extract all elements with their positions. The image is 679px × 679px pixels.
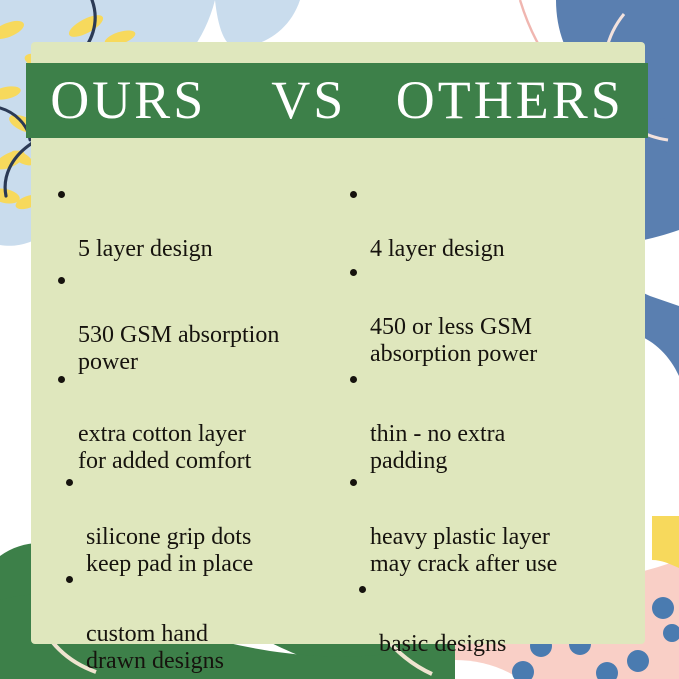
bullet-dot-icon bbox=[350, 191, 357, 198]
list-item-label: heavy plastic layer may crack after use bbox=[370, 524, 557, 580]
list-item-label: 450 or less GSM absorption power bbox=[370, 314, 537, 370]
comparison-columns: 5 layer design 530 GSM absorption power … bbox=[31, 150, 645, 644]
list-item: custom hand drawn designs bbox=[66, 565, 224, 679]
list-item-label: 5 layer design bbox=[78, 236, 213, 264]
bullet-dot-icon bbox=[58, 277, 65, 284]
column-ours: 5 layer design 530 GSM absorption power … bbox=[31, 150, 338, 644]
bullet-dot-icon bbox=[66, 576, 73, 583]
list-item-label: basic designs bbox=[379, 631, 506, 659]
bullet-dot-icon bbox=[359, 586, 366, 593]
column-others: 4 layer design 450 or less GSM absorptio… bbox=[338, 150, 645, 644]
bullet-dot-icon bbox=[58, 191, 65, 198]
bottom-right-yellow-corner bbox=[652, 516, 679, 568]
bullet-dot-icon bbox=[58, 376, 65, 383]
bullet-dot-icon bbox=[350, 376, 357, 383]
title-band: OURS VS OTHERS bbox=[26, 63, 648, 138]
list-item-label: custom hand drawn designs bbox=[86, 621, 224, 677]
list-item: basic designs bbox=[359, 575, 506, 679]
poster-canvas: OURS VS OTHERS 5 layer design 530 GSM ab… bbox=[0, 0, 679, 679]
bullet-dot-icon bbox=[66, 479, 73, 486]
bullet-dot-icon bbox=[350, 269, 357, 276]
page-title: OURS VS OTHERS bbox=[26, 72, 648, 126]
bullet-dot-icon bbox=[350, 479, 357, 486]
